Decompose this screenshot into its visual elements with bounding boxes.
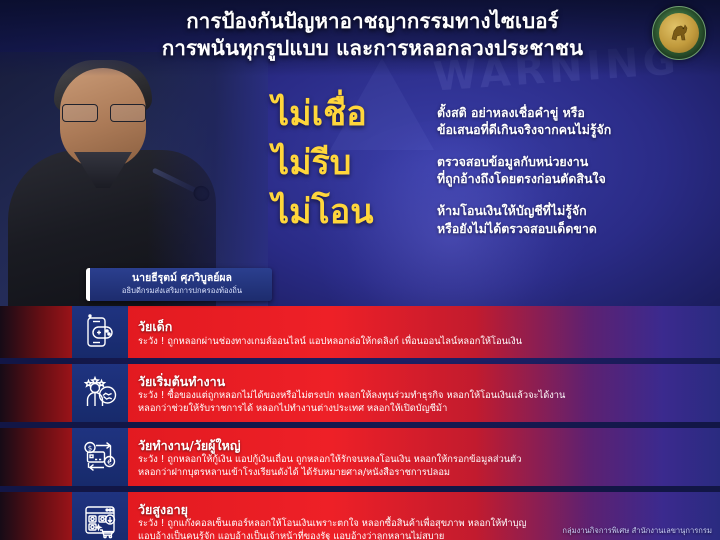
money-transfer-icon: $ € xyxy=(72,428,128,486)
slogan-desc-line-2: ข้อเสนอที่ดีเกินจริงจากคนไม่รู้จัก xyxy=(437,121,720,138)
age-group-title: วัยทำงาน/วัยผู้ใหญ่ xyxy=(138,439,712,454)
slogan-description: ตรวจสอบข้อมูลกับหน่วยงาน ที่ถูกอ้างถึงโด… xyxy=(437,146,720,187)
age-group-row-child: วัยเด็ก ระวัง ! ถูกหลอกผ่านช่องทางเกมส์อ… xyxy=(0,306,720,358)
speaker-title: อธิบดีกรมส่งเสริมการปกครองท้องถิ่น xyxy=(100,286,264,296)
row-content: วัยเริ่มต้นทำงาน ระวัง ! ซื้อของแต่ถูกหล… xyxy=(128,364,720,422)
age-group-body: ระวัง ! ซื้อของแต่ถูกหลอกไม่ได้ของหรือไม… xyxy=(138,390,712,415)
slogan-row: ไม่โอน ห้ามโอนเงินให้บัญชีที่ไม่รู้จัก ห… xyxy=(272,195,720,236)
slogan-desc-line-1: ตั้งสติ อย่าหลงเชื่อคำขู่ หรือ xyxy=(437,104,720,121)
slogan-row: ไม่เชื่อ ตั้งสติ อย่าหลงเชื่อคำขู่ หรือ … xyxy=(272,97,720,138)
slogan-desc-line-2: หรือยังไม่ได้ตรวจสอบเด็ดขาด xyxy=(437,220,720,237)
infographic-poster: WARNING การป้องกันปัญหาอาชญากรรมทางไซเบอ… xyxy=(0,0,720,540)
footer-credit: กลุ่มงานกิจการพิเศษ สำนักงานเลขานุการกรม xyxy=(562,525,712,537)
age-group-row-early-career: วัยเริ่มต้นทำงาน ระวัง ! ซื้อของแต่ถูกหล… xyxy=(0,364,720,422)
slogan-block: ไม่เชื่อ ตั้งสติ อย่าหลงเชื่อคำขู่ หรือ … xyxy=(272,95,720,285)
slogan-desc-line-1: ตรวจสอบข้อมูลกับหน่วยงาน xyxy=(437,153,720,170)
slogan-keyword: ไม่เชื่อ xyxy=(272,97,437,131)
department-seal-icon xyxy=(652,6,706,60)
svg-text:€: € xyxy=(107,458,111,466)
slogan-desc-line-2: ที่ถูกอ้างถึงโดยตรงก่อนตัดสินใจ xyxy=(437,170,720,187)
body-line-2: หลอกว่าฝากบุตรหลานเข้าโรงเรียนดังได้ ได้… xyxy=(138,467,712,479)
age-group-body: ระวัง ! ถูกหลอกผ่านช่องทางเกมส์ออนไลน์ แ… xyxy=(138,336,712,348)
body-line-1: ระวัง ! ถูกหลอกผ่านช่องทางเกมส์ออนไลน์ แ… xyxy=(138,336,712,348)
age-group-title: วัยเด็ก xyxy=(138,320,712,335)
poster-header: การป้องกันปัญหาอาชญากรรมทางไซเบอร์ การพน… xyxy=(0,0,720,76)
online-shopping-icon xyxy=(72,492,128,540)
slogan-description: ตั้งสติ อย่าหลงเชื่อคำขู่ หรือ ข้อเสนอที… xyxy=(437,97,720,138)
slogan-keyword: ไม่โอน xyxy=(272,195,437,229)
body-line-1: ระวัง ! ซื้อของแต่ถูกหลอกไม่ได้ของหรือไม… xyxy=(138,390,712,402)
smartphone-gamepad-icon xyxy=(72,306,128,358)
age-group-title: วัยเริ่มต้นทำงาน xyxy=(138,375,712,390)
title-line-2: การพนันทุกรูปแบบ และการหลอกลวงประชาชน xyxy=(162,36,583,60)
age-group-body: ระวัง ! ถูกหลอกให้กู้เงิน แอปกู้เงินเถื่… xyxy=(138,454,712,479)
slogan-row: ไม่รีบ ตรวจสอบข้อมูลกับหน่วยงาน ที่ถูกอ้… xyxy=(272,146,720,187)
slogan-desc-line-1: ห้ามโอนเงินให้บัญชีที่ไม่รู้จัก xyxy=(437,202,720,219)
title-line-1: การป้องกันปัญหาอาชญากรรมทางไซเบอร์ xyxy=(186,9,558,33)
lion-glyph xyxy=(663,17,695,49)
age-group-row-working-adult: $ € วัยทำงาน/วัยผู้ใหญ่ ระวัง ! ถูกหลอกใ… xyxy=(0,428,720,486)
page-title: การป้องกันปัญหาอาชญากรรมทางไซเบอร์ การพน… xyxy=(95,8,650,61)
businessman-handshake-icon xyxy=(72,364,128,422)
row-content: วัยทำงาน/วัยผู้ใหญ่ ระวัง ! ถูกหลอกให้กู… xyxy=(128,428,720,486)
seal-inner xyxy=(659,13,699,53)
speaker-nameplate: นายธีรุตม์ ศุภวิบูลย์ผล อธิบดีกรมส่งเสริ… xyxy=(86,268,272,301)
slogan-keyword: ไม่รีบ xyxy=(272,146,437,180)
age-group-title: วัยสูงอายุ xyxy=(138,503,712,518)
slogan-description: ห้ามโอนเงินให้บัญชีที่ไม่รู้จัก หรือยังไ… xyxy=(437,195,720,236)
speaker-name: นายธีรุตม์ ศุภวิบูลย์ผล xyxy=(100,272,264,285)
body-line-1: ระวัง ! ถูกหลอกให้กู้เงิน แอปกู้เงินเถื่… xyxy=(138,454,712,466)
body-line-2: หลอกว่าช่วยให้รับราชการได้ หลอกไปทำงานต่… xyxy=(138,403,712,415)
age-group-list: วัยเด็ก ระวัง ! ถูกหลอกผ่านช่องทางเกมส์อ… xyxy=(0,306,720,534)
row-content: วัยเด็ก ระวัง ! ถูกหลอกผ่านช่องทางเกมส์อ… xyxy=(128,306,720,358)
